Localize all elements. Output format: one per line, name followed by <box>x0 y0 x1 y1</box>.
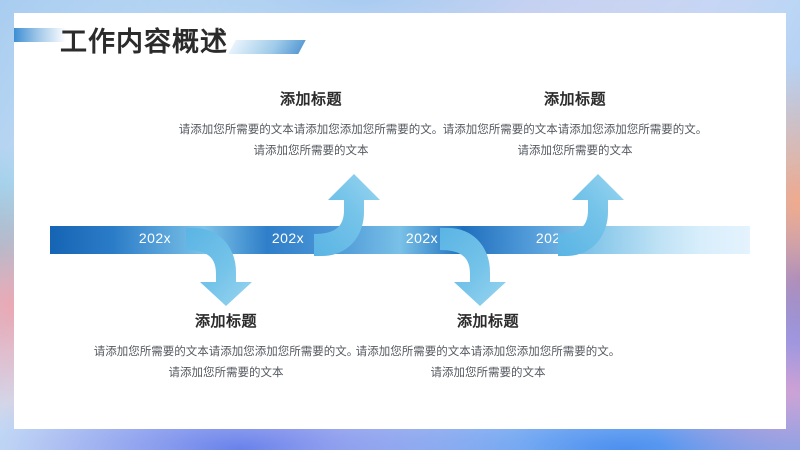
arrow-curve-down-icon-1 <box>186 228 262 306</box>
block-heading: 添加标题 <box>178 88 444 109</box>
arrow-curve-up-icon-2 <box>558 174 634 256</box>
block-body-text: 请添加您所需要的文本请添加您添加您所需要的文。请添加您所需要的文本 <box>90 342 362 385</box>
title-right-accent-parallelogram <box>228 40 305 54</box>
block-body-text: 请添加您所需要的文本请添加您添加您所需要的文。请添加您所需要的文本 <box>440 120 710 163</box>
content-block-top-left: 添加标题 请添加您所需要的文本请添加您添加您所需要的文。请添加您所需要的文本 <box>178 88 444 163</box>
page-title: 工作内容概述 <box>60 20 228 59</box>
block-heading: 添加标题 <box>352 310 624 331</box>
block-heading: 添加标题 <box>90 310 362 331</box>
arrow-curve-up-icon-1 <box>314 174 390 256</box>
content-block-top-right: 添加标题 请添加您所需要的文本请添加您添加您所需要的文。请添加您所需要的文本 <box>440 88 710 163</box>
arrow-curve-down-icon-2 <box>440 228 516 306</box>
content-block-bottom-left: 添加标题 请添加您所需要的文本请添加您添加您所需要的文。请添加您所需要的文本 <box>90 310 362 385</box>
timeline-label-1: 202x <box>120 230 190 246</box>
title-left-accent-bar <box>14 28 66 42</box>
block-heading: 添加标题 <box>440 88 710 109</box>
block-body-text: 请添加您所需要的文本请添加您添加您所需要的文。请添加您所需要的文本 <box>178 120 444 163</box>
slide-root: 工作内容概述 202x 202x 202x 202x <box>0 0 800 450</box>
content-block-bottom-right: 添加标题 请添加您所需要的文本请添加您添加您所需要的文。请添加您所需要的文本 <box>352 310 624 385</box>
timeline-label-2: 202x <box>253 230 323 246</box>
block-body-text: 请添加您所需要的文本请添加您添加您所需要的文。请添加您所需要的文本 <box>352 342 624 385</box>
